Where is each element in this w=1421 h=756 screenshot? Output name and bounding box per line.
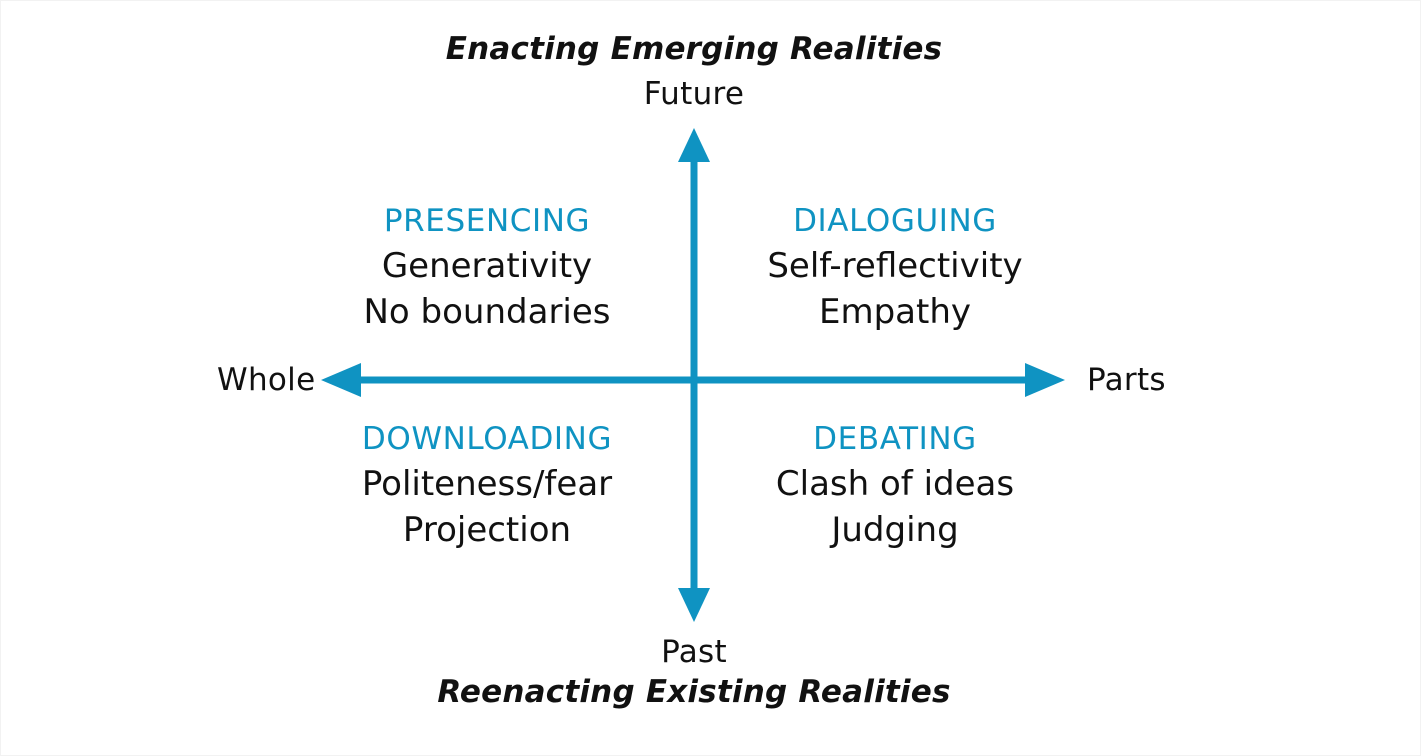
quadrant-dialoguing-line-2: Empathy [767,295,1022,331]
vertical-axis-top-caption: Enacting Emerging Realities [446,34,943,65]
arrowhead-up-icon [678,128,710,162]
quadrant-debating-line-1: Clash of ideas [776,467,1014,503]
quadrant-presencing-line-2: No boundaries [364,295,611,331]
quadrant-downloading-heading: DOWNLOADING [362,424,612,455]
quadrant-presencing: PRESENCING Generativity No boundaries [364,206,611,330]
quadrant-dialoguing: DIALOGUING Self-reflectivity Empathy [767,206,1022,330]
quadrant-dialoguing-line-1: Self-reflectivity [767,249,1022,285]
vertical-axis-bottom-caption: Reenacting Existing Realities [437,677,950,708]
quadrant-downloading-line-2: Projection [362,513,612,549]
arrowhead-left-icon [321,363,361,397]
diagram-canvas: Enacting Emerging Realities Future Past … [0,0,1421,756]
arrowhead-right-icon [1025,363,1065,397]
horizontal-axis-right-endpoint: Parts [1087,365,1166,396]
quadrant-presencing-heading: PRESENCING [364,206,611,237]
quadrant-presencing-line-1: Generativity [364,249,611,285]
quadrant-dialoguing-heading: DIALOGUING [767,206,1022,237]
quadrant-downloading-line-1: Politeness/fear [362,467,612,503]
horizontal-axis-left-endpoint: Whole [217,365,315,396]
vertical-axis-top-endpoint: Future [644,79,745,110]
quadrant-downloading: DOWNLOADING Politeness/fear Projection [362,424,612,548]
arrowhead-down-icon [678,588,710,622]
quadrant-debating: DEBATING Clash of ideas Judging [776,424,1014,548]
quadrant-debating-line-2: Judging [776,513,1014,549]
quadrant-debating-heading: DEBATING [776,424,1014,455]
vertical-axis-bottom-endpoint: Past [661,637,727,668]
